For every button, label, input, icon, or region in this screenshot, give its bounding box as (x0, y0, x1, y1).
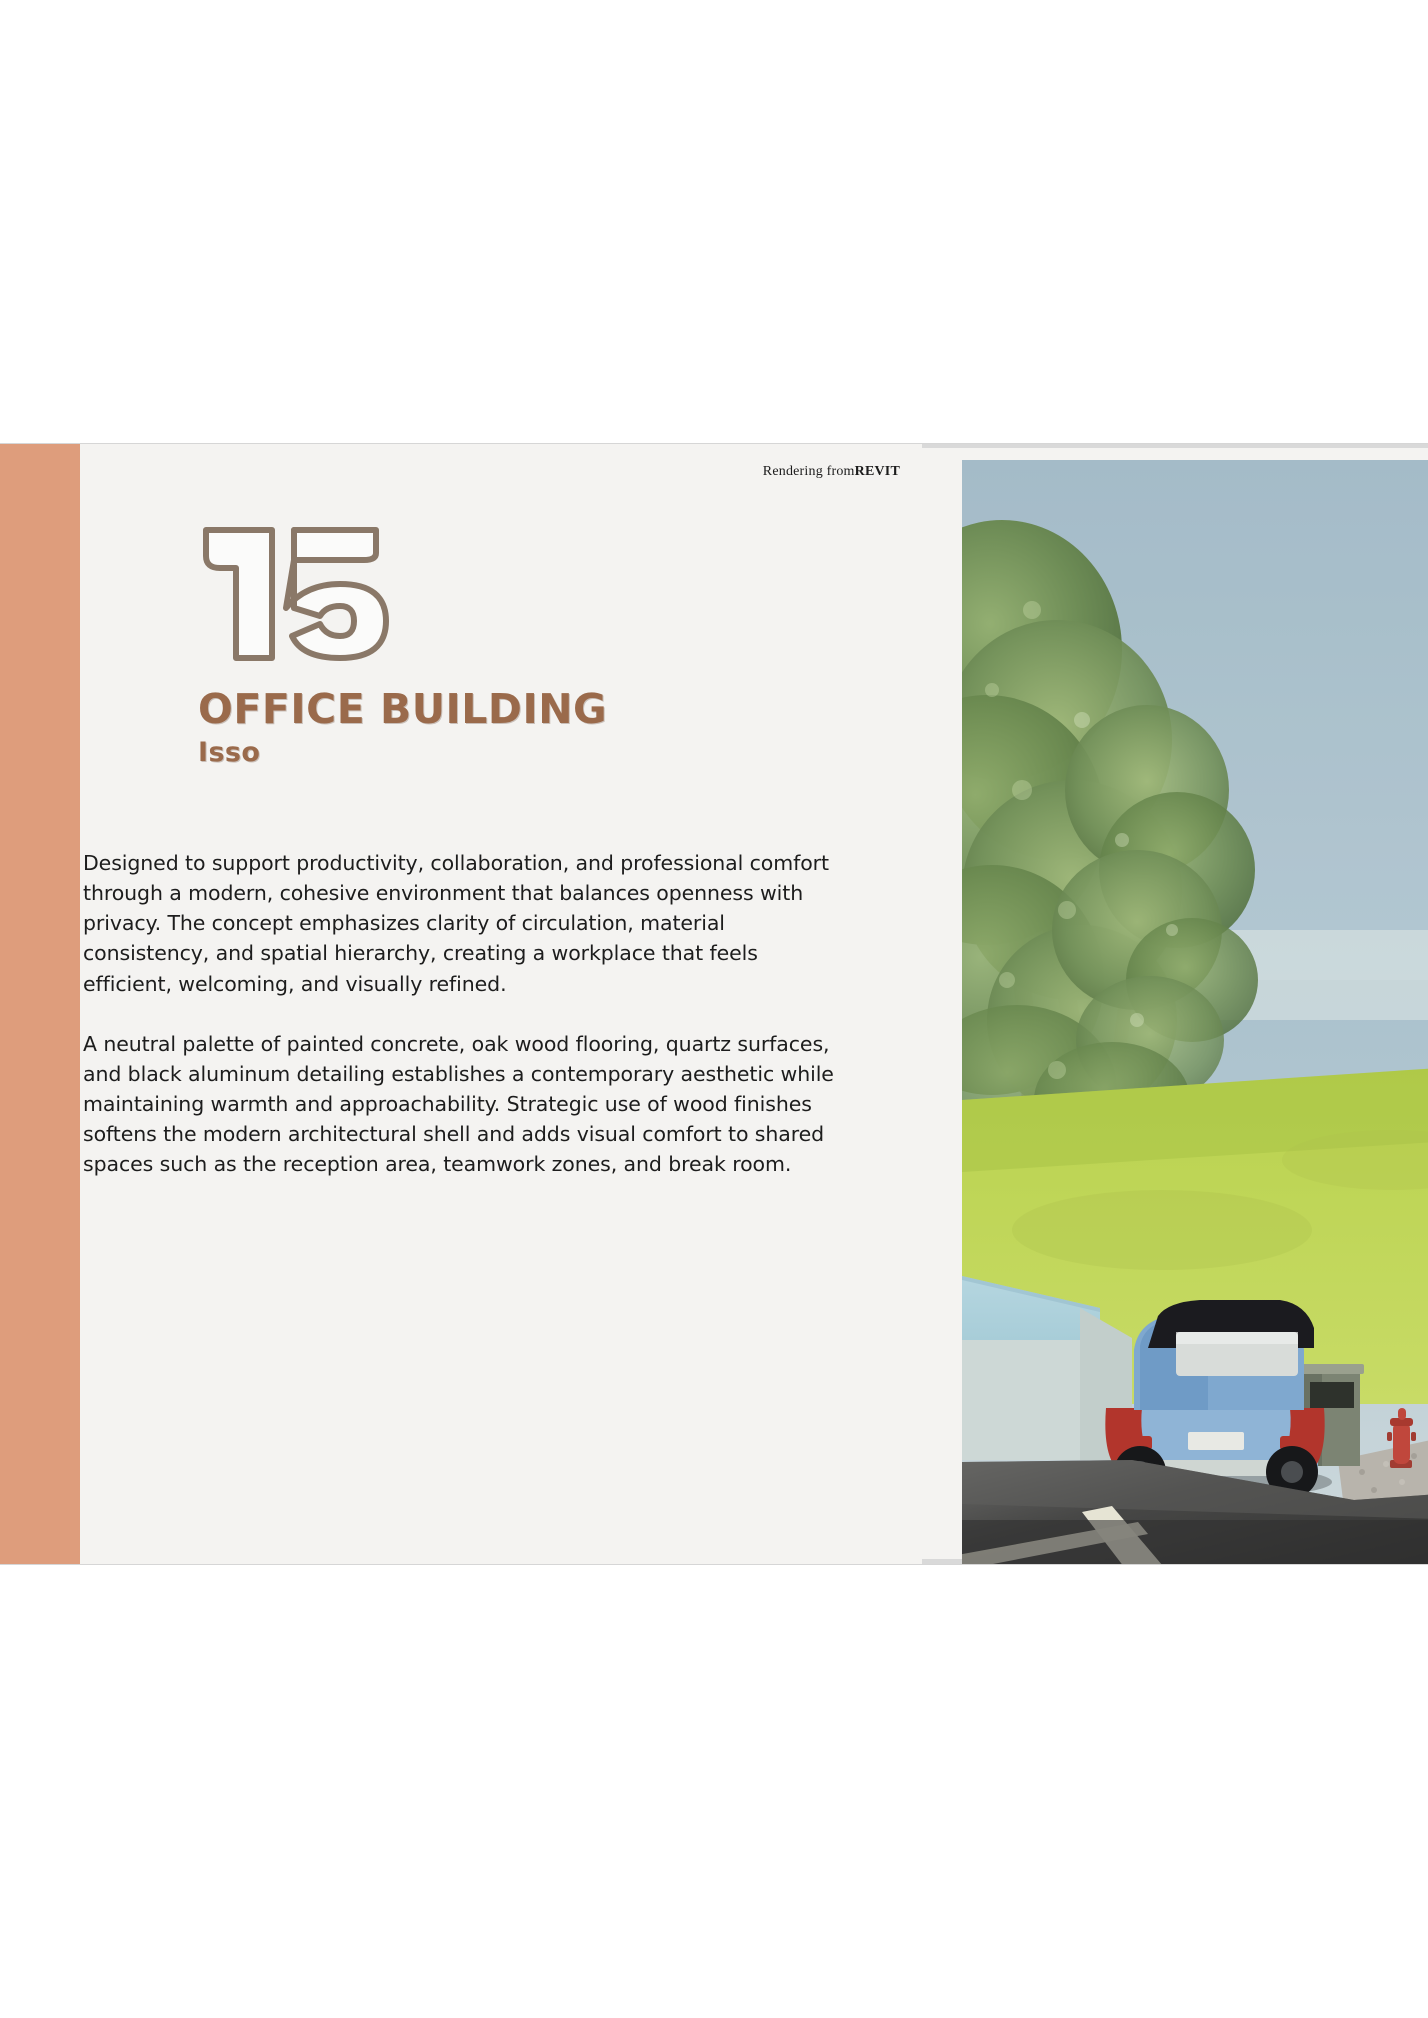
page-title: OFFICE BUILDING (198, 688, 898, 731)
rendering-credit: Rendering fromREVIT (763, 464, 900, 480)
presentation-slide: Rendering fromREVIT OFFICE BUILDING Isso… (0, 444, 1428, 1564)
body-paragraph-1: Designed to support productivity, collab… (83, 848, 853, 999)
body-paragraph-2: A neutral palette of painted concrete, o… (83, 1029, 853, 1180)
rendering-credit-software: REVIT (855, 464, 900, 479)
body-copy: Designed to support productivity, collab… (83, 848, 853, 1179)
chapter-number-15 (190, 516, 490, 666)
page-subtitle: Isso (198, 739, 898, 767)
left-accent-bar (0, 444, 80, 1564)
content-column: Rendering fromREVIT OFFICE BUILDING Isso… (80, 444, 922, 1564)
title-block: OFFICE BUILDING Isso (198, 688, 898, 767)
exterior-rendering-image (962, 460, 1428, 1564)
rendering-credit-label: Rendering from (763, 464, 855, 479)
